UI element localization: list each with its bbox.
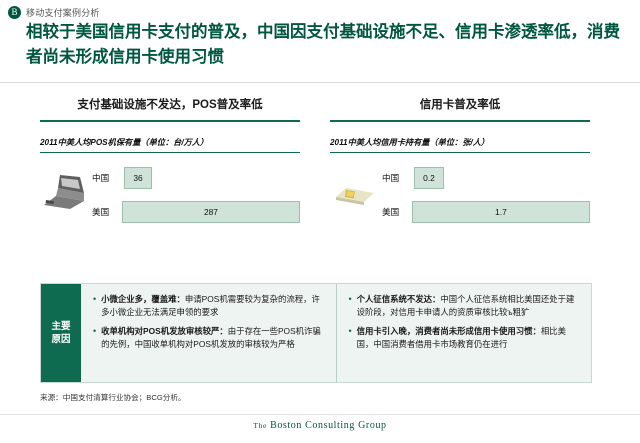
chart-right-value-0: 0.2	[423, 173, 435, 183]
chart-row: 美国 1.7	[382, 201, 590, 223]
credit-card-icon	[330, 171, 378, 211]
bullet-dot-icon: •	[349, 293, 352, 318]
footer-divider	[0, 414, 640, 415]
panel-right-caption-rule	[330, 152, 590, 153]
bullet-strong: 个人征信系统不发达：	[357, 294, 441, 304]
bullet-strong: 信用卡引入晚，消费者尚未形成信用卡使用习惯：	[357, 326, 541, 336]
section-tag-label: 移动支付案例分析	[26, 6, 100, 19]
panel-left-title-rule	[40, 120, 300, 122]
list-item: • 个人征信系统不发达：中国个人征信系统相比美国还处于建设阶段，对信用卡申请人的…	[349, 293, 582, 318]
panel-pos-infrastructure: 支付基础设施不发达，POS普及率低 2011中美人均POS机保有量（单位：台/万…	[40, 96, 300, 247]
bullet-dot-icon: •	[93, 293, 96, 318]
bcg-logo-the: The	[253, 421, 267, 430]
panel-right-title-rule	[330, 120, 590, 122]
list-item: • 收单机构对POS机发放审核较严：由于存在一些POS机诈骗的先例，中国收单机构…	[93, 325, 326, 350]
panel-left-caption-rule	[40, 152, 300, 153]
chart-row: 美国 287	[92, 201, 300, 223]
chart-left-bar-0: 36	[124, 167, 152, 189]
page-title: 相较于美国信用卡支付的普及，中国因支付基础设施不足、信用卡渗透率低，消费者尚未形…	[26, 20, 626, 70]
bullet-text: 小微企业多，覆盖难：申请POS机需要较为复杂的流程，许多小微企业无法满足申领的要…	[101, 293, 325, 318]
chart-left-bar-1: 287	[122, 201, 300, 223]
chart-row: 中国 0.2	[382, 167, 590, 189]
chart-pos-per-10k: 中国 36 美国 287	[40, 167, 300, 247]
list-item: • 小微企业多，覆盖难：申请POS机需要较为复杂的流程，许多小微企业无法满足申领…	[93, 293, 326, 318]
panel-right-title: 信用卡普及率低	[330, 96, 590, 120]
panel-credit-card-penetration: 信用卡普及率低 2011中美人均信用卡持有量（单位：张/人） 中国 0.2 美国	[330, 96, 590, 247]
header-tag-row: B 移动支付案例分析	[8, 6, 100, 19]
bullet-text: 个人征信系统不发达：中国个人征信系统相比美国还处于建设阶段，对信用卡申请人的资质…	[357, 293, 581, 318]
slide-header: B 移动支付案例分析 相较于美国信用卡支付的普及，中国因支付基础设施不足、信用卡…	[0, 0, 640, 80]
panel-left-chart-caption: 2011中美人均POS机保有量（单位：台/万人）	[40, 136, 300, 148]
chart-left-rows: 中国 36 美国 287	[92, 167, 300, 235]
chart-right-bar-1: 1.7	[412, 201, 590, 223]
reasons-column-right: • 个人征信系统不发达：中国个人征信系统相比美国还处于建设阶段，对信用卡申请人的…	[336, 284, 592, 382]
reasons-tab-label: 主要原因	[41, 284, 81, 382]
bcg-logo-name: Boston Consulting Group	[270, 420, 387, 431]
pos-terminal-icon	[40, 171, 88, 211]
chart-right-rows: 中国 0.2 美国 1.7	[382, 167, 590, 235]
bullet-dot-icon: •	[93, 325, 96, 350]
chart-left-value-1: 287	[204, 207, 218, 217]
chart-left-cat-0: 中国	[92, 172, 124, 184]
chart-cards-per-capita: 中国 0.2 美国 1.7	[330, 167, 590, 247]
header-divider	[0, 82, 640, 83]
list-item: • 信用卡引入晚，消费者尚未形成信用卡使用习惯：相比美国，中国消费者借用卡市场教…	[349, 325, 582, 350]
chart-right-bar-0: 0.2	[414, 167, 444, 189]
panel-right-chart-caption: 2011中美人均信用卡持有量（单位：张/人）	[330, 136, 590, 148]
reasons-column-left: • 小微企业多，覆盖难：申请POS机需要较为复杂的流程，许多小微企业无法满足申领…	[81, 284, 336, 382]
chart-left-cat-1: 美国	[92, 206, 122, 218]
bullet-dot-icon: •	[349, 325, 352, 350]
bullet-text: 信用卡引入晚，消费者尚未形成信用卡使用习惯：相比美国，中国消费者借用卡市场教育仍…	[357, 325, 581, 350]
chart-left-value-0: 36	[133, 173, 142, 183]
bullet-strong: 小微企业多，覆盖难：	[101, 294, 185, 304]
chart-right-value-1: 1.7	[495, 207, 507, 217]
bullet-strong: 收单机构对POS机发放审核较严：	[101, 326, 228, 336]
main-reasons-box: 主要原因 • 小微企业多，覆盖难：申请POS机需要较为复杂的流程，许多小微企业无…	[40, 283, 592, 383]
section-badge: B	[8, 6, 21, 19]
chart-row: 中国 36	[92, 167, 300, 189]
bullet-text: 收单机构对POS机发放审核较严：由于存在一些POS机诈骗的先例，中国收单机构对P…	[101, 325, 325, 350]
chart-right-cat-0: 中国	[382, 172, 414, 184]
bcg-logo: The Boston Consulting Group	[0, 420, 640, 431]
source-note: 来源：中国支付清算行业协会；BCG分析。	[40, 392, 186, 403]
panel-left-title: 支付基础设施不发达，POS普及率低	[40, 96, 300, 120]
chart-right-cat-1: 美国	[382, 206, 412, 218]
